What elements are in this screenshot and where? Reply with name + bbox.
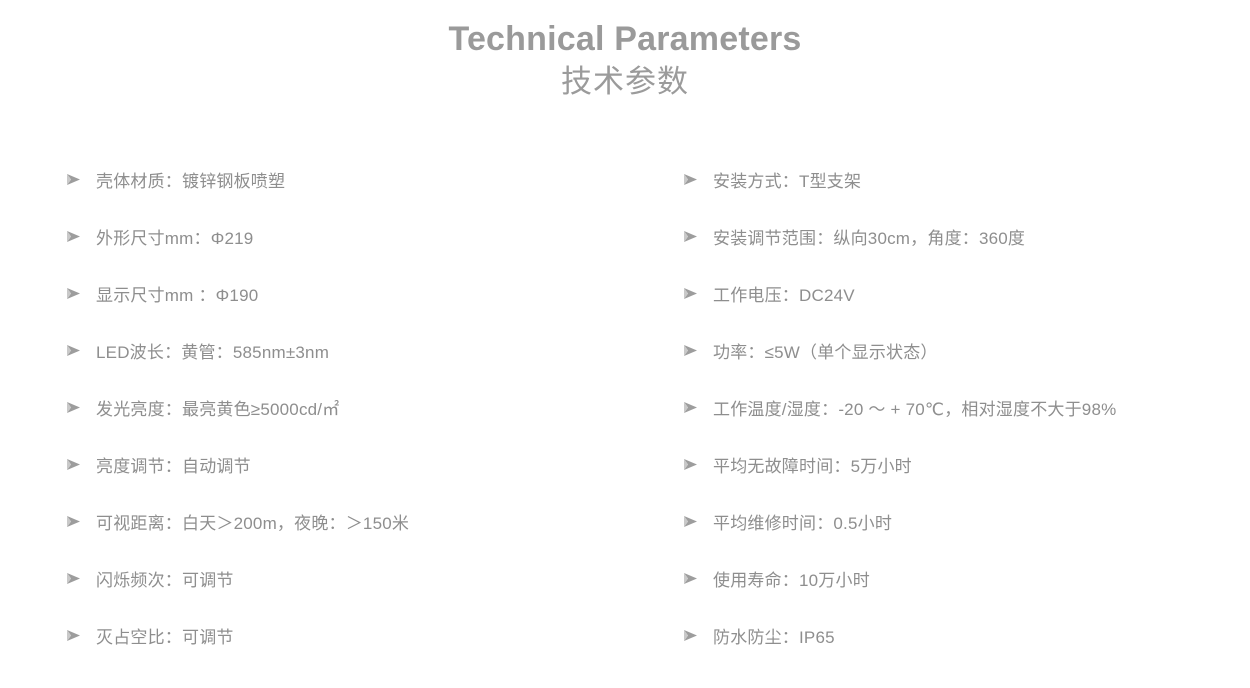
spec-item-label: 使用寿命：10万小时 <box>713 552 870 609</box>
spec-item: 安装调节范围：纵向30cm，角度：360度 <box>683 207 1243 264</box>
arrowhead-right-icon <box>683 548 713 585</box>
spec-columns: 壳体材质：镀锌钢板喷塑 外形尺寸mm：Φ219 <box>0 150 1250 670</box>
spec-column-right: 安装方式：T型支架 安装调节范围：纵向30cm，角度：360度 <box>683 150 1243 663</box>
spec-item: 功率：≤5W（单个显示状态） <box>683 321 1243 378</box>
arrowhead-right-icon <box>66 263 96 300</box>
spec-item: 壳体材质：镀锌钢板喷塑 <box>66 150 666 207</box>
spec-item-label: 外形尺寸mm：Φ219 <box>96 210 253 267</box>
arrowhead-right-icon <box>66 434 96 471</box>
spec-item: 亮度调节：自动调节 <box>66 435 666 492</box>
arrowhead-right-icon <box>683 149 713 186</box>
spec-item-label: 亮度调节：自动调节 <box>96 438 251 495</box>
spec-item: 发光亮度：最亮黄色≥5000cd/㎡ <box>66 378 666 435</box>
arrowhead-right-icon <box>66 206 96 243</box>
arrowhead-right-icon <box>683 491 713 528</box>
arrowhead-right-icon <box>66 605 96 642</box>
spec-item: 显示尺寸mm ：Φ190 <box>66 264 666 321</box>
spec-item-label: 工作电压：DC24V <box>713 267 855 324</box>
page-title-chinese: 技术参数 <box>0 60 1250 104</box>
spec-item: 外形尺寸mm：Φ219 <box>66 207 666 264</box>
technical-parameters-page: Technical Parameters 技术参数 壳体材质：镀锌钢板喷塑 <box>0 0 1250 688</box>
spec-item-label: LED波长：黄管：585nm±3nm <box>96 324 329 381</box>
spec-item: 使用寿命：10万小时 <box>683 549 1243 606</box>
spec-item-label: 灭占空比：可调节 <box>96 609 234 666</box>
arrowhead-right-icon <box>66 320 96 357</box>
spec-item-label: 壳体材质：镀锌钢板喷塑 <box>96 153 285 210</box>
arrowhead-right-icon <box>66 377 96 414</box>
arrowhead-right-icon <box>683 377 713 414</box>
spec-item-label: 功率：≤5W（单个显示状态） <box>713 324 938 381</box>
spec-item: 平均无故障时间：5万小时 <box>683 435 1243 492</box>
arrowhead-right-icon <box>683 320 713 357</box>
arrowhead-right-icon <box>66 491 96 528</box>
spec-item: LED波长：黄管：585nm±3nm <box>66 321 666 378</box>
spec-item: 工作电压：DC24V <box>683 264 1243 321</box>
spec-item: 可视距离：白天＞200m，夜晚：＞150米 <box>66 492 666 549</box>
spec-item: 防水防尘：IP65 <box>683 606 1243 663</box>
spec-item-label: 安装方式：T型支架 <box>713 153 861 210</box>
page-header: Technical Parameters 技术参数 <box>0 18 1250 104</box>
spec-item: 灭占空比：可调节 <box>66 606 666 663</box>
arrowhead-right-icon <box>683 434 713 471</box>
arrowhead-right-icon <box>66 548 96 585</box>
spec-item-label: 发光亮度：最亮黄色≥5000cd/㎡ <box>96 381 339 438</box>
spec-item-label: 闪烁频次：可调节 <box>96 552 234 609</box>
page-title-english: Technical Parameters <box>0 18 1250 60</box>
spec-item-label: 可视距离：白天＞200m，夜晚：＞150米 <box>96 495 409 552</box>
spec-item-label: 工作温度/湿度：-20 ～ + 70℃，相对湿度不大于98% <box>713 381 1116 438</box>
spec-item-label: 安装调节范围：纵向30cm，角度：360度 <box>713 210 1025 267</box>
arrowhead-right-icon <box>66 149 96 186</box>
spec-item-label: 平均无故障时间：5万小时 <box>713 438 912 495</box>
spec-column-left: 壳体材质：镀锌钢板喷塑 外形尺寸mm：Φ219 <box>66 150 666 663</box>
spec-item: 闪烁频次：可调节 <box>66 549 666 606</box>
spec-item-label: 显示尺寸mm ：Φ190 <box>96 267 258 324</box>
spec-item-label: 平均维修时间：0.5小时 <box>713 495 892 552</box>
arrowhead-right-icon <box>683 206 713 243</box>
spec-item: 工作温度/湿度：-20 ～ + 70℃，相对湿度不大于98% <box>683 378 1243 435</box>
spec-item-label: 防水防尘：IP65 <box>713 609 835 666</box>
arrowhead-right-icon <box>683 263 713 300</box>
spec-item: 平均维修时间：0.5小时 <box>683 492 1243 549</box>
arrowhead-right-icon <box>683 605 713 642</box>
spec-item: 安装方式：T型支架 <box>683 150 1243 207</box>
